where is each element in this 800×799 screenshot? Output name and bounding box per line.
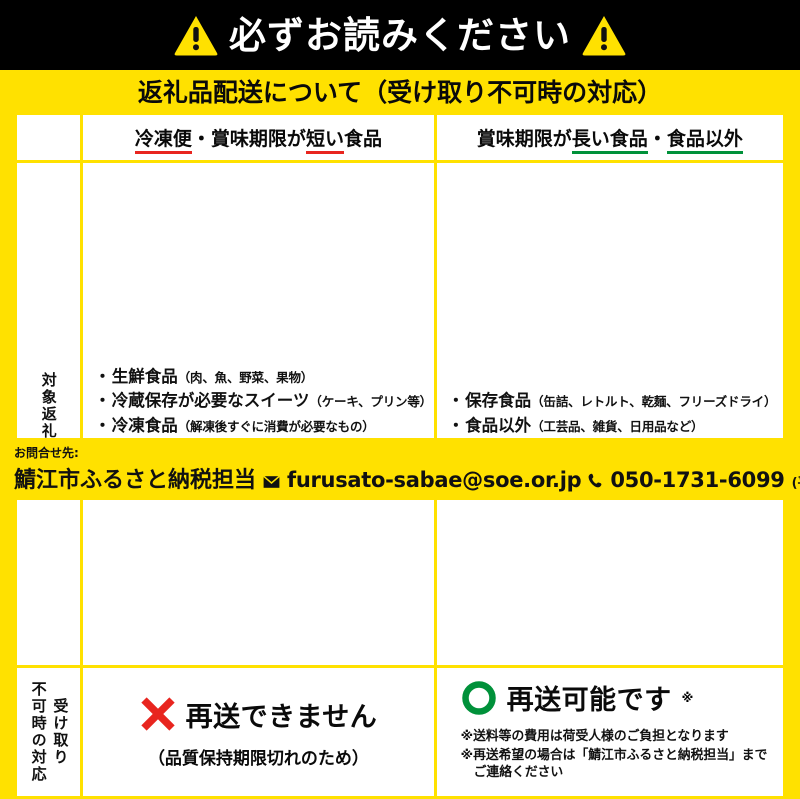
row-label-text-part-2: 不可時の対応 xyxy=(27,681,49,783)
footer-hours: (平日10:00-17:00対応) xyxy=(792,472,800,491)
row-label-target-items: 対象返礼品 xyxy=(16,162,82,667)
footer-email[interactable]: furusato-sabae@soe.or.jp xyxy=(287,468,581,492)
table-row: 不可時の対応 受け取り 再送できません （品質保持期限切れのため） xyxy=(16,667,785,798)
note-item: ※送料等の費用は荷受人様のご負担となります xyxy=(461,729,771,746)
circle-mark-icon xyxy=(461,680,497,716)
column-header-left-underline-1: 冷凍便 xyxy=(135,128,192,154)
column-header-left: 冷凍便・賞味期限が短い食品 xyxy=(82,114,435,162)
cell-right-target-items: ・保存食品（缶詰、レトルト、乾麺、フリーズドライ） ・食品以外（工芸品、雑貨、日… xyxy=(435,162,784,667)
list-item: ・保存食品（缶詰、レトルト、乾麺、フリーズドライ） xyxy=(448,392,776,411)
result-right-text: 再送可能です xyxy=(507,678,672,717)
list-item-note: （肉、魚、野菜、果物） xyxy=(178,371,313,385)
list-item-note: （ケーキ、プリン等） xyxy=(309,395,432,409)
list-item: ・冷凍食品（解凍後すぐに消費が必要なもの） xyxy=(94,417,426,436)
result-left-text: 再送できません xyxy=(186,695,378,734)
warning-triangle-icon xyxy=(581,14,627,56)
column-header-left-underline-2: 短い xyxy=(306,128,344,154)
footer-organization: 鯖江市ふるさと納税担当 xyxy=(14,462,256,494)
column-header-right: 賞味期限が長い食品・食品以外 xyxy=(435,114,784,162)
list-item-main: 生鮮食品 xyxy=(112,368,178,387)
subtitle-band: 返礼品配送について（受け取り不可時の対応） xyxy=(0,70,800,112)
row-label-response: 不可時の対応 受け取り xyxy=(16,667,82,798)
corner-cell xyxy=(16,114,82,162)
table-header-row: 冷凍便・賞味期限が短い食品 賞味期限が長い食品・食品以外 xyxy=(16,114,785,162)
footer-phone[interactable]: 050-1731-6099 xyxy=(610,468,784,492)
result-left: 再送できません xyxy=(89,695,427,734)
envelope-icon xyxy=(263,475,280,489)
column-header-right-pre: 賞味期限が xyxy=(477,128,572,150)
list-item-main: 保存食品 xyxy=(465,392,531,411)
list-item: ・食品以外（工芸品、雑貨、日用品など） xyxy=(448,417,776,436)
bullet-dot: ・ xyxy=(448,392,465,411)
notes-list: ※送料等の費用は荷受人様のご負担となります ※再送希望の場合は「鯖江市ふるさと納… xyxy=(461,729,771,782)
list-item-note: （解凍後すぐに消費が必要なもの） xyxy=(178,420,375,434)
page-title: 必ずお読みください xyxy=(229,17,571,54)
bullet-dot: ・ xyxy=(94,392,111,411)
column-header-right-mid: ・ xyxy=(648,128,667,150)
table-row: 対象返礼品 ・生鮮食品（肉、魚、野菜、果物） ・冷蔵保存が必要なスイーツ（ケーキ… xyxy=(16,162,785,667)
warning-triangle-icon xyxy=(173,14,219,56)
result-right: 再送可能です※ xyxy=(453,678,771,717)
list-item: ・生鮮食品（肉、魚、野菜、果物） xyxy=(94,368,426,387)
cell-left-target-items: ・生鮮食品（肉、魚、野菜、果物） ・冷蔵保存が必要なスイーツ（ケーキ、プリン等）… xyxy=(82,162,435,667)
infographic-root: 必ずお読みください 返礼品配送について（受け取り不可時の対応） 冷凍便・賞味期限… xyxy=(0,0,800,500)
phone-icon xyxy=(588,473,603,489)
note-item: ※再送希望の場合は「鯖江市ふるさと納税担当」まで ご連絡ください xyxy=(461,748,771,782)
column-header-right-underline-1: 長い食品 xyxy=(572,128,648,154)
cell-left-response: 再送できません （品質保持期限切れのため） xyxy=(82,667,435,798)
column-header-right-underline-2: 食品以外 xyxy=(667,128,743,154)
footer-label: お問合せ先: xyxy=(14,444,786,461)
column-header-left-mid: ・賞味期限が xyxy=(192,128,306,150)
note-line: ※送料等の費用は荷受人様のご負担となります xyxy=(461,729,771,746)
row-label-text: 対象返礼品 xyxy=(41,164,57,664)
cell-right-response: 再送可能です※ ※送料等の費用は荷受人様のご負担となります ※再送希望の場合は「… xyxy=(435,667,784,798)
note-line-continued: ご連絡ください xyxy=(461,765,771,782)
note-line: ※再送希望の場合は「鯖江市ふるさと納税担当」まで xyxy=(461,748,771,765)
cross-mark-icon xyxy=(140,696,176,732)
reference-mark: ※ xyxy=(682,691,694,705)
bullet-dot: ・ xyxy=(448,417,465,436)
list-item-note: （缶詰、レトルト、乾麺、フリーズドライ） xyxy=(531,395,776,409)
list-item-main: 冷蔵保存が必要なスイーツ xyxy=(112,392,310,411)
footer-contact: お問合せ先: 鯖江市ふるさと納税担当 furusato-sabae@soe.or… xyxy=(0,438,800,500)
bullet-dot: ・ xyxy=(94,417,111,436)
list-item-main: 食品以外 xyxy=(465,417,531,436)
list-item-note: （工芸品、雑貨、日用品など） xyxy=(531,420,703,434)
header-banner: 必ずお読みください xyxy=(0,0,800,70)
bullet-dot: ・ xyxy=(94,368,111,387)
row-label-text-part-1: 受け取り xyxy=(49,698,71,766)
list-item-main: 冷凍食品 xyxy=(112,417,178,436)
subtitle-text: 返礼品配送について（受け取り不可時の対応） xyxy=(138,73,662,109)
column-header-left-post: 食品 xyxy=(344,128,382,150)
list-item: ・冷蔵保存が必要なスイーツ（ケーキ、プリン等） xyxy=(94,392,426,411)
footer-contact-row: 鯖江市ふるさと納税担当 furusato-sabae@soe.or.jp 050… xyxy=(14,462,786,494)
result-left-note: （品質保持期限切れのため） xyxy=(89,744,427,769)
